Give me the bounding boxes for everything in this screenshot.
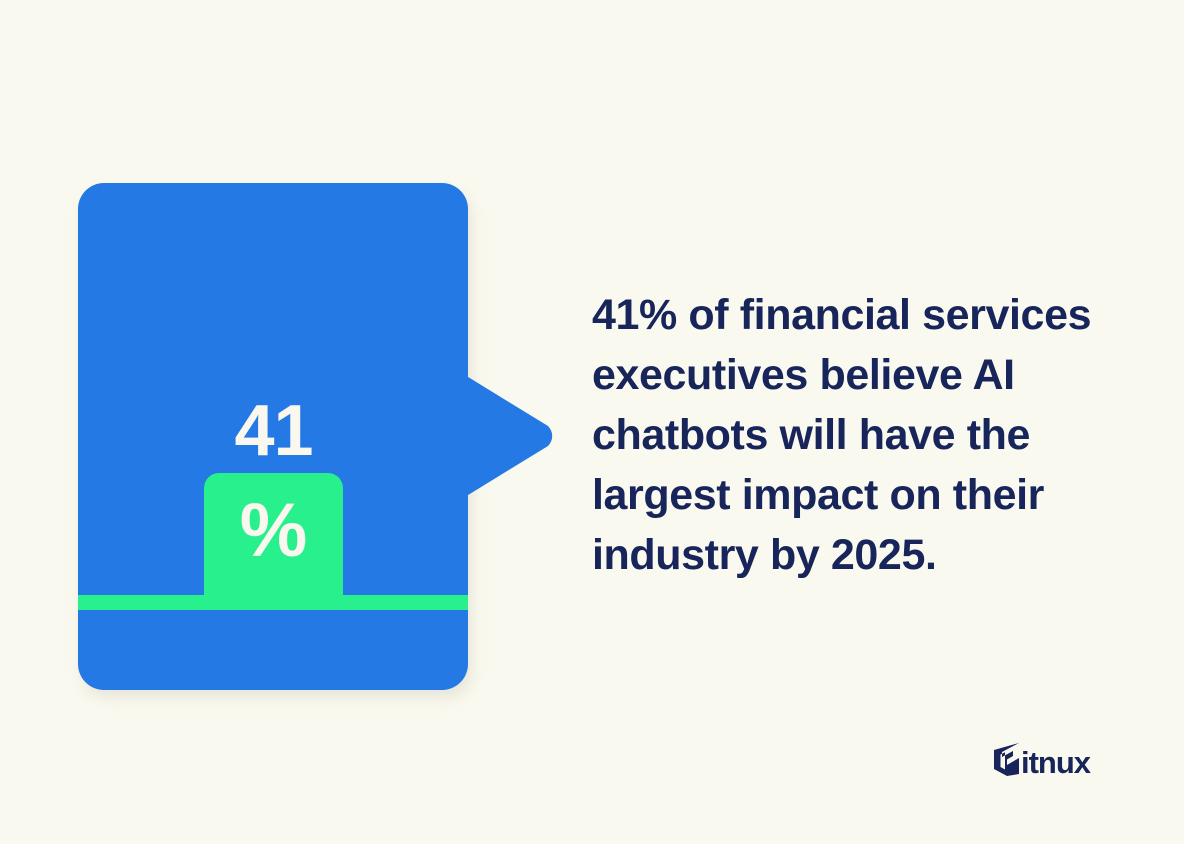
headline-line-1: 41% of financial services [592,285,1112,345]
gitnux-logo-text: itnux [1021,747,1090,778]
headline-line-4: largest impact on their [592,465,1112,525]
headline-line-2: executives believe AI [592,345,1112,405]
headline-line-5: industry by 2025. [592,525,1112,585]
statistic-unit: % [204,493,343,569]
bar-baseline [78,595,468,610]
statistic-visual: 41 % [0,0,600,844]
headline-text: 41% of financial services executives bel… [592,285,1112,585]
statistic-card: 41 % [78,183,468,690]
gitnux-g-icon [994,743,1020,781]
speech-pointer-icon [460,372,570,500]
infographic-canvas: 41 % 41% of financial services executive… [0,0,1184,844]
gitnux-logo: itnux [994,745,1090,779]
statistic-value: 41 [204,395,343,467]
headline-line-3: chatbots will have the [592,405,1112,465]
